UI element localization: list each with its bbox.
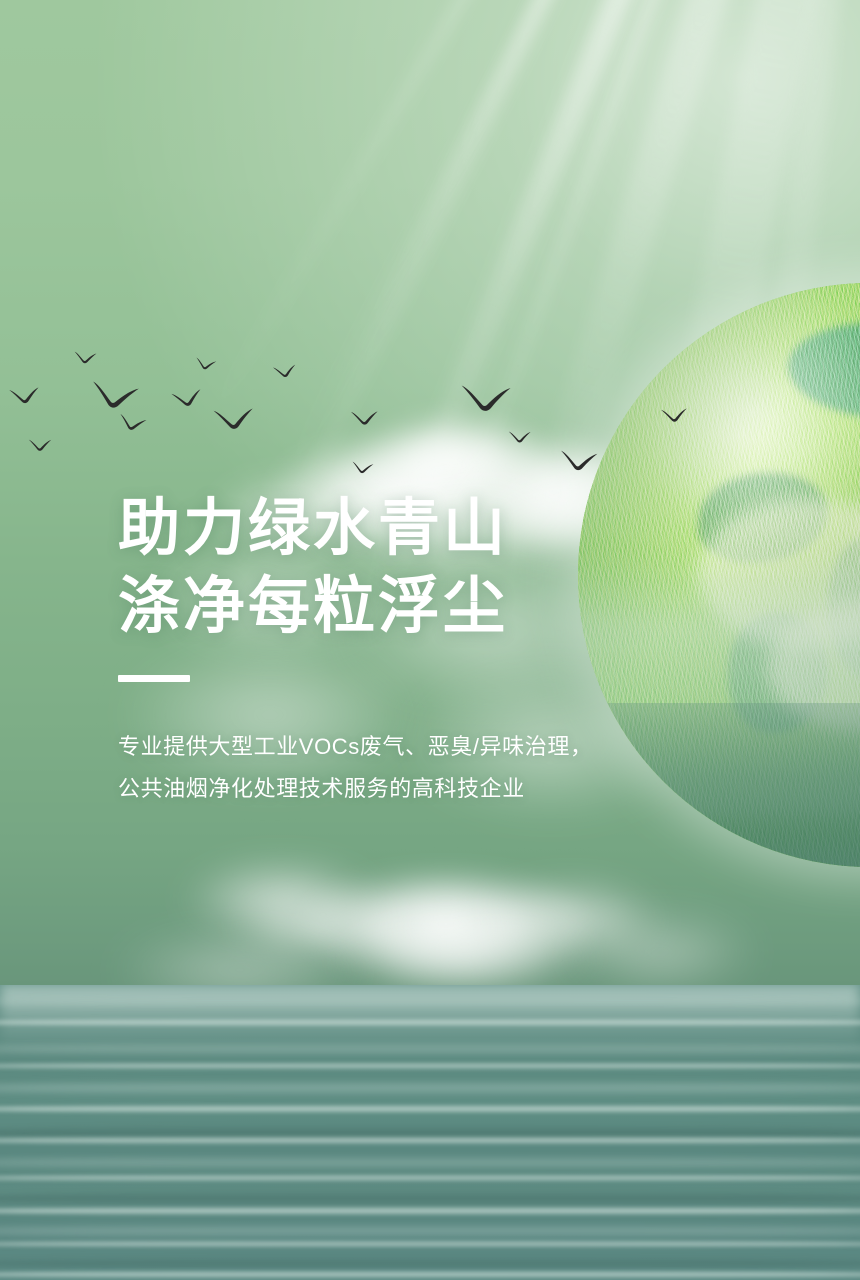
bird-icon — [194, 356, 218, 373]
bird-icon — [28, 438, 52, 452]
bird-icon — [170, 387, 204, 411]
wave-line — [0, 1257, 860, 1270]
eco-banner-poster: 助力绿水青山 涤净每粒浮尘 专业提供大型工业VOCs废气、恶臭/异味治理， 公共… — [0, 0, 860, 1280]
bird-icon — [351, 460, 375, 476]
wave-line — [0, 1105, 860, 1113]
wave-line — [0, 1207, 860, 1215]
wave-line — [0, 1157, 860, 1168]
bird-icon — [116, 412, 147, 435]
horizon-mist — [0, 985, 860, 1049]
bird-icon — [660, 406, 689, 424]
wave-line — [0, 1063, 860, 1069]
headline-divider — [118, 675, 190, 682]
bird-icon — [558, 448, 599, 474]
bird-icon — [88, 378, 141, 414]
cloud-puff — [560, 912, 760, 992]
wave-line — [0, 1271, 860, 1278]
bird-icon — [350, 409, 379, 427]
bird-icon — [212, 405, 256, 433]
wave-line — [0, 1191, 860, 1206]
bird-icon — [73, 350, 97, 366]
bird-icon — [8, 385, 41, 407]
wave-line — [0, 1175, 860, 1181]
bird-icon — [272, 363, 298, 381]
bird-icon — [459, 382, 513, 415]
water-surface — [0, 985, 860, 1280]
subtitle-line-1: 专业提供大型工业VOCs废气、恶臭/异味治理， — [118, 726, 678, 768]
wave-line — [0, 1043, 860, 1055]
wave-line — [0, 1225, 860, 1237]
wave-line — [0, 1019, 860, 1026]
wave-line — [0, 1137, 860, 1144]
headline-line-1: 助力绿水青山 — [118, 490, 678, 568]
bird-icon — [508, 430, 531, 444]
subtitle-line-2: 公共油烟净化处理技术服务的高科技企业 — [118, 768, 678, 810]
text-content: 助力绿水青山 涤净每粒浮尘 专业提供大型工业VOCs废气、恶臭/异味治理， 公共… — [118, 490, 678, 810]
headline-line-2: 涤净每粒浮尘 — [118, 568, 678, 646]
bird-flock — [0, 330, 470, 460]
wave-line — [0, 997, 860, 1006]
wave-line — [0, 1241, 860, 1247]
wave-line — [0, 1081, 860, 1095]
